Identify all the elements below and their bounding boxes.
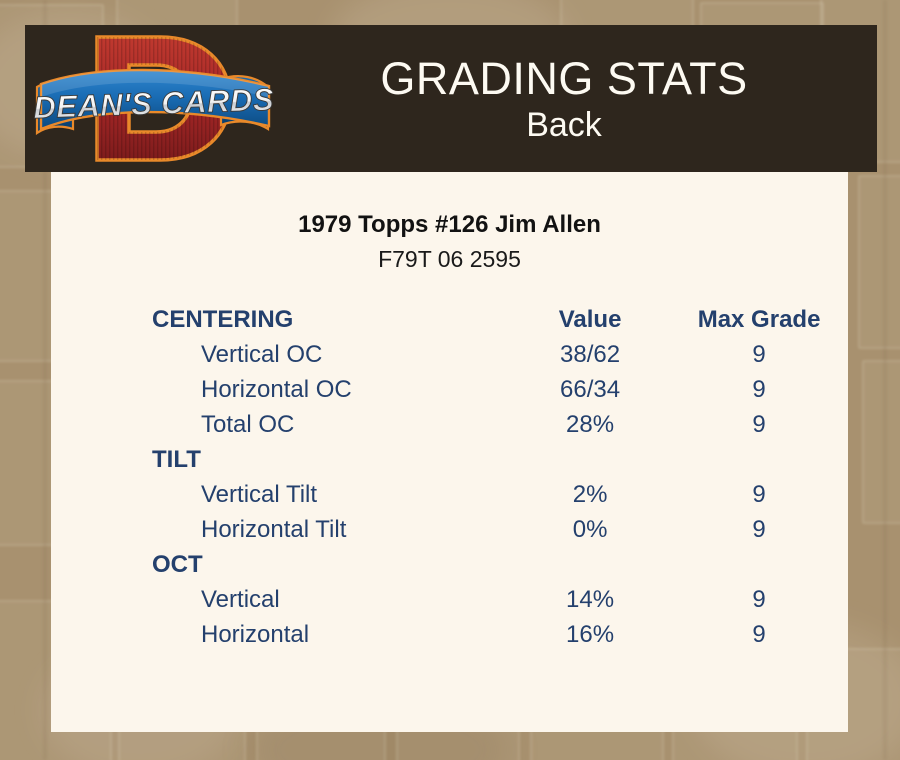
page-title: GRADING STATS [285,53,843,105]
stat-label: Vertical [51,582,510,617]
table-head: CENTERING Value Max Grade [51,302,848,337]
page-subtitle: Back [285,105,843,145]
stat-label: Vertical OC [51,337,510,372]
column-header-value: Value [510,302,670,337]
table-row: Horizontal OC66/349 [51,372,848,407]
section-header-row: TILT [51,442,848,477]
section-label: TILT [51,442,510,477]
stat-max-grade: 9 [670,582,848,617]
stat-label: Vertical Tilt [51,477,510,512]
header-titles: GRADING STATS Back [285,53,877,145]
stat-value: 38/62 [510,337,670,372]
table-row: Vertical Tilt2%9 [51,477,848,512]
card-serial-number: F79T 06 2595 [51,244,848,274]
content-panel: 1979 Topps #126 Jim Allen F79T 06 2595 C… [51,172,848,732]
header-bar: DEAN'S CARDS GRADING STATS Back [25,25,877,172]
section-label: OCT [51,547,510,582]
table-row: Vertical14%9 [51,582,848,617]
stat-value: 28% [510,407,670,442]
stat-max-grade: 9 [670,372,848,407]
stat-label: Total OC [51,407,510,442]
grading-stats-table: CENTERING Value Max Grade Vertical OC38/… [51,302,848,652]
card-title: 1979 Topps #126 Jim Allen [51,210,848,240]
section-header-row: OCT [51,547,848,582]
table-header-row: CENTERING Value Max Grade [51,302,848,337]
table-row: Vertical OC38/629 [51,337,848,372]
column-header-max-grade: Max Grade [670,302,848,337]
background-card [862,360,900,524]
table-row: Total OC28%9 [51,407,848,442]
table-row: Horizontal Tilt0%9 [51,512,848,547]
stat-label: Horizontal OC [51,372,510,407]
stat-value: 2% [510,477,670,512]
stat-max-grade [670,442,848,477]
stat-value: 66/34 [510,372,670,407]
stat-label: Horizontal Tilt [51,512,510,547]
column-header-centering: CENTERING [51,302,510,337]
table-body: Vertical OC38/629Horizontal OC66/349Tota… [51,337,848,652]
stat-max-grade: 9 [670,617,848,652]
stat-value [510,442,670,477]
stat-max-grade [670,547,848,582]
table-row: Horizontal16%9 [51,617,848,652]
deans-cards-logo[interactable]: DEAN'S CARDS [25,25,285,172]
stat-value [510,547,670,582]
deans-cards-logo-icon: DEAN'S CARDS [25,25,285,172]
stat-max-grade: 9 [670,337,848,372]
stat-max-grade: 9 [670,512,848,547]
background-card [858,175,900,349]
stat-label: Horizontal [51,617,510,652]
stat-max-grade: 9 [670,407,848,442]
background-seam [884,0,886,760]
stat-value: 0% [510,512,670,547]
stat-max-grade: 9 [670,477,848,512]
stat-value: 16% [510,617,670,652]
stat-value: 14% [510,582,670,617]
